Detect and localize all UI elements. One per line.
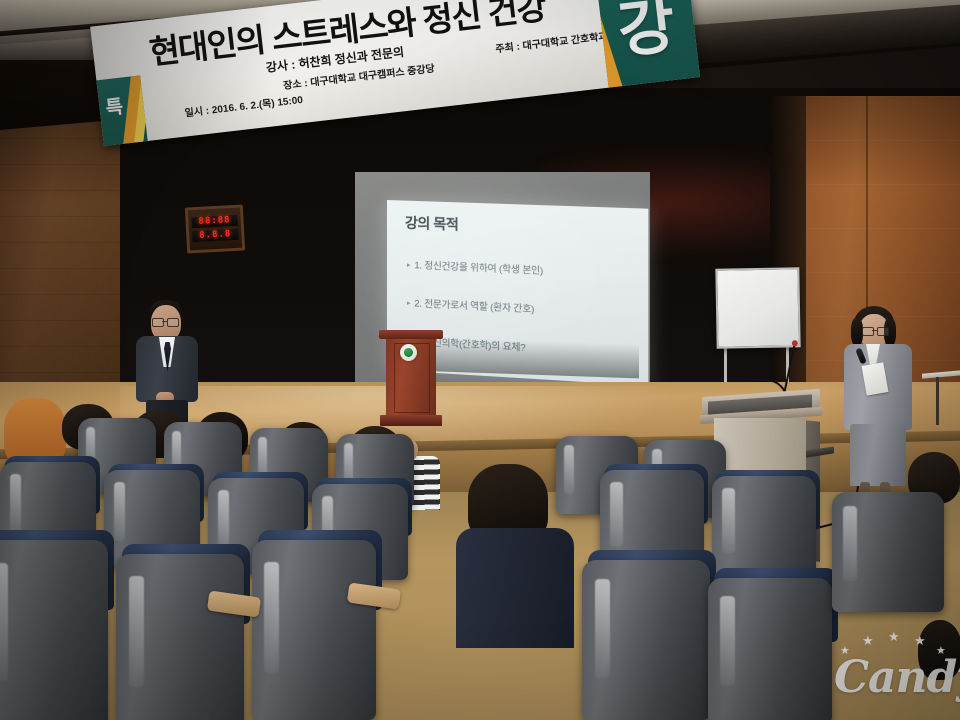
banner-right-tab: 강	[595, 0, 700, 88]
led-row-upper: 88:88	[191, 215, 238, 228]
audience-shoulders	[456, 528, 574, 648]
right-wall-corner	[770, 96, 810, 426]
audience-head	[918, 620, 960, 680]
slide-bullet: 1. 정신건강을 위하여 (학생 본인)	[407, 257, 543, 277]
lectern-base	[380, 415, 442, 426]
wooden-lectern	[383, 330, 439, 426]
led-row-lower: 8.8.8	[192, 229, 239, 242]
glasses	[152, 318, 178, 325]
glasses	[862, 327, 888, 334]
led-digits-upper: 88:88	[191, 215, 238, 228]
led-digits-lower: 8.8.8	[192, 229, 239, 242]
banner-left-tab: 특	[96, 75, 147, 146]
university-emblem	[400, 344, 417, 361]
banner-left-tab-char: 특	[104, 92, 123, 121]
lectern-top	[379, 330, 443, 339]
skirt	[850, 424, 906, 486]
led-clock-display: 88:88 8.8.8	[185, 205, 245, 254]
slide-title: 강의 목적	[405, 213, 458, 235]
banner-right-tab-char: 강	[612, 0, 676, 70]
slide-bullet: 2. 전문가로서 역할 (환자 간호)	[407, 295, 534, 315]
auditorium-photo: 특 현대인의 스트레스와 정신 건강 강사 : 허찬희 정신과 전문의 장소 :…	[0, 0, 960, 720]
whiteboard	[715, 267, 800, 348]
